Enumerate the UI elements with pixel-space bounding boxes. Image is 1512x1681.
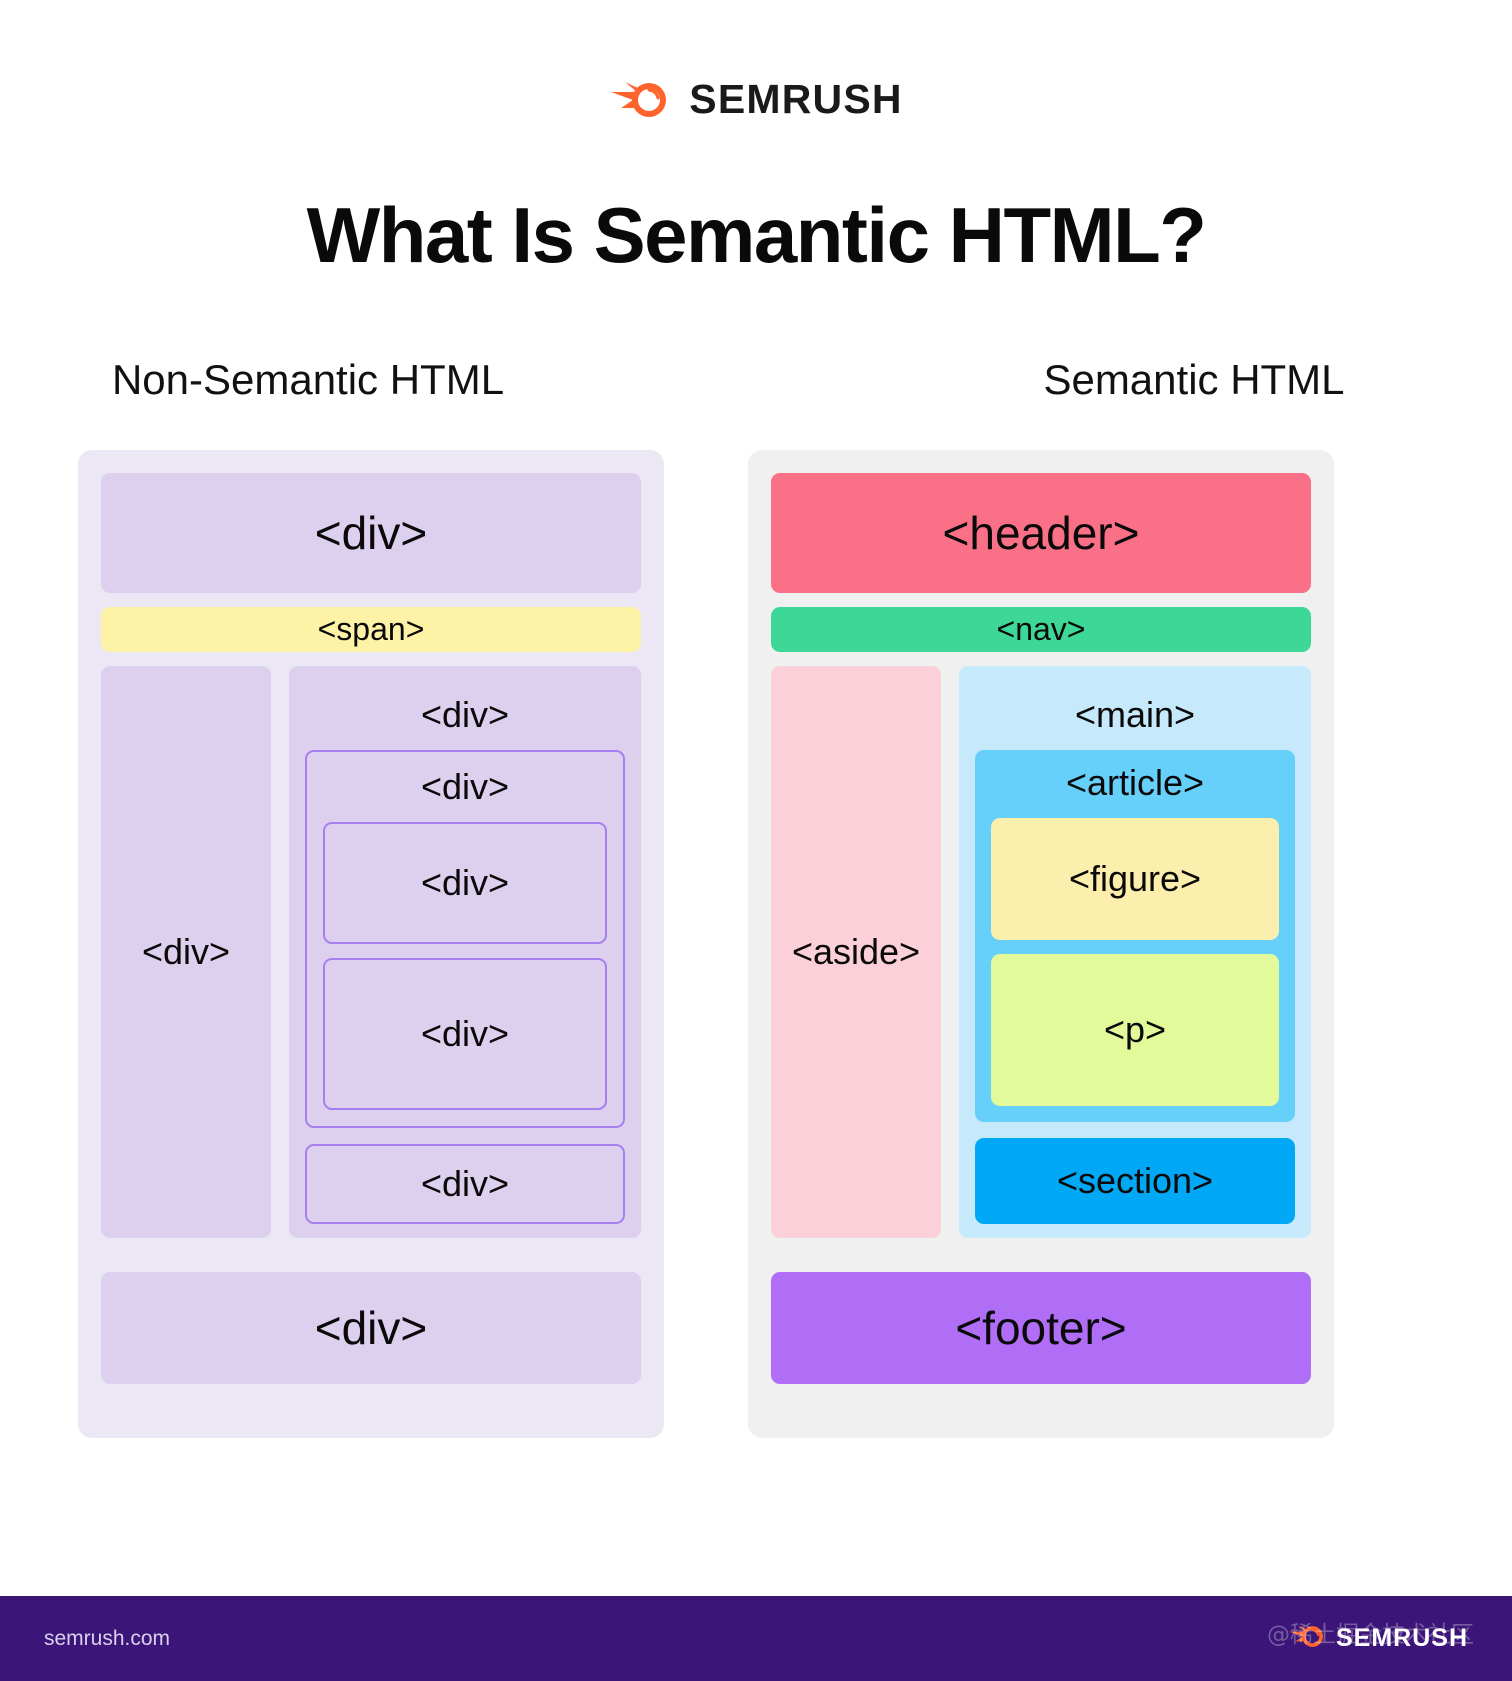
non-semantic-content-div: <div> <div> <div> <div> <div> [289, 666, 641, 1238]
non-semantic-span: <span> [101, 607, 641, 652]
semrush-wordmark: SEMRUSH [689, 76, 902, 123]
semantic-header-block: <header> [771, 473, 1311, 593]
semantic-middle-row: <aside> <main> <article> <figure> <p> <s… [771, 666, 1311, 1238]
non-semantic-inner-div-2: <div> [323, 958, 607, 1110]
heading-semantic: Semantic HTML [756, 356, 1512, 404]
footer-site-url[interactable]: semrush.com [44, 1627, 170, 1651]
semantic-main-block: <main> <article> <figure> <p> <section> [959, 666, 1311, 1238]
non-semantic-content-div-label: <div> [305, 680, 625, 750]
non-semantic-nested-div-label: <div> [323, 752, 607, 822]
semantic-article-label: <article> [991, 750, 1279, 818]
non-semantic-inner-div-1: <div> [323, 822, 607, 944]
semrush-comet-logo-icon [1288, 1623, 1326, 1655]
semantic-footer-block: <footer> [771, 1272, 1311, 1384]
non-semantic-top-div: <div> [101, 473, 641, 593]
semrush-comet-logo-icon [609, 78, 671, 122]
column-headings: Non-Semantic HTML Semantic HTML [0, 356, 1512, 404]
page-title: What Is Semantic HTML? [0, 190, 1512, 281]
footer-bar: semrush.com SEMRUSH @稀土掘金技术社区 [0, 1596, 1512, 1681]
non-semantic-sidebar-div: <div> [101, 666, 271, 1238]
non-semantic-middle-row: <div> <div> <div> <div> <div> <div> [101, 666, 641, 1238]
comparison-panels: <div> <span> <div> <div> <div> <div> <di… [78, 450, 1334, 1438]
semantic-article-block: <article> <figure> <p> [975, 750, 1295, 1122]
non-semantic-nested-div: <div> <div> <div> [305, 750, 625, 1128]
semantic-nav-block: <nav> [771, 607, 1311, 652]
non-semantic-bottom-div: <div> [101, 1272, 641, 1384]
semantic-section-block: <section> [975, 1138, 1295, 1224]
non-semantic-panel: <div> <span> <div> <div> <div> <div> <di… [78, 450, 664, 1438]
semantic-aside-block: <aside> [771, 666, 941, 1238]
semrush-brand-header: SEMRUSH [0, 76, 1512, 123]
semantic-panel: <header> <nav> <aside> <main> <article> … [748, 450, 1334, 1438]
semantic-main-label: <main> [975, 680, 1295, 750]
heading-non-semantic: Non-Semantic HTML [0, 356, 756, 404]
semantic-figure-block: <figure> [991, 818, 1279, 940]
non-semantic-last-div: <div> [305, 1144, 625, 1224]
semantic-paragraph-block: <p> [991, 954, 1279, 1106]
footer-brand: SEMRUSH @稀土掘金技术社区 [1288, 1623, 1468, 1655]
footer-semrush-wordmark: SEMRUSH [1336, 1624, 1468, 1653]
